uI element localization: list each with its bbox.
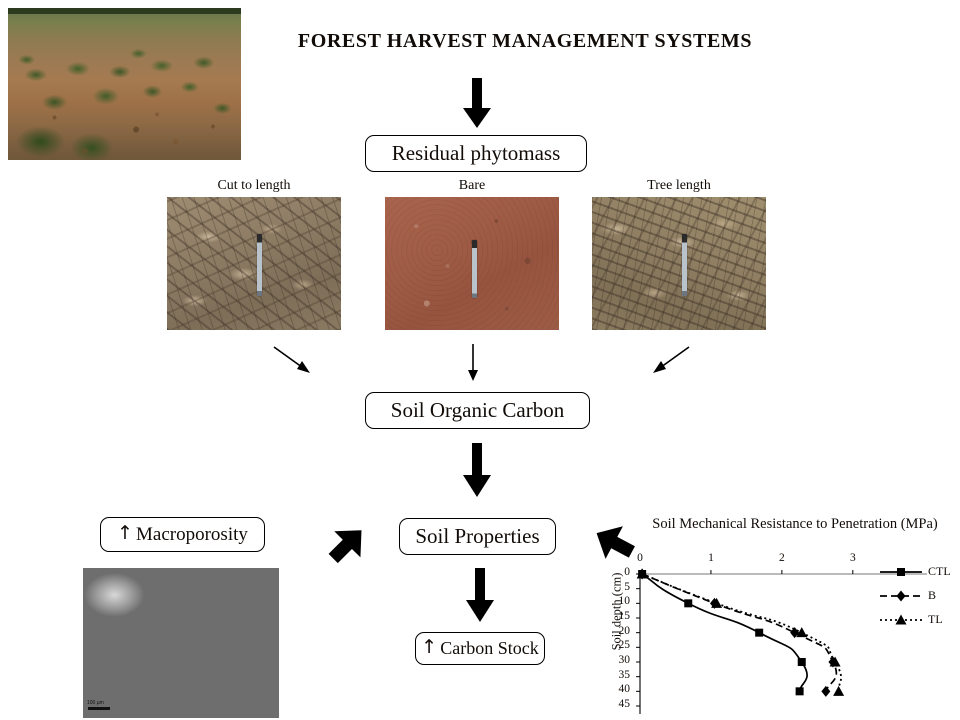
legend-marker-b [897, 591, 906, 602]
box-macroporosity: ↑ Macroporosity [100, 517, 265, 552]
increase-arrow-icon: ↑ [117, 524, 133, 543]
chart-series-line-ctl [642, 574, 807, 691]
caption-bare: Bare [385, 178, 559, 194]
legend-marker-ctl [897, 568, 905, 576]
arrow-phytomass-to-ctl [272, 345, 318, 379]
tree-length-residue-photo [592, 197, 766, 330]
box-macroporosity-label: Macroporosity [136, 524, 248, 546]
chart-data-point-tl [833, 686, 844, 696]
plantation-photo [8, 8, 241, 160]
chart-series-line-tl [642, 574, 841, 691]
bare-soil-photo [385, 197, 559, 330]
legend-label-tl: TL [928, 612, 943, 627]
arrow-bare-to-soc [466, 344, 480, 382]
pen-scale-object [472, 240, 477, 298]
box-soil-organic-carbon: Soil Organic Carbon [365, 392, 590, 429]
box-residual-phytomass: Residual phytomass [365, 135, 587, 172]
cut-to-length-residue-photo [167, 197, 341, 330]
arrow-soc-to-soil-properties [462, 443, 492, 499]
pen-scale-object [682, 234, 687, 296]
arrow-properties-to-carbon-stock [465, 568, 495, 624]
chart-data-point-ctl [798, 658, 806, 666]
chart-data-point-ctl [796, 687, 804, 695]
chart-data-point-ctl [684, 599, 692, 607]
legend-label-ctl: CTL [928, 564, 951, 579]
caption-cut-to-length: Cut to length [167, 178, 341, 194]
sem-micrograph-photo: 100 µm [83, 568, 279, 718]
arrow-tl-to-soc [645, 345, 691, 379]
box-soil-properties-label: Soil Properties [415, 524, 539, 549]
arrow-title-to-phytomass [462, 78, 492, 130]
legend-marker-tl [896, 615, 907, 625]
box-carbon-stock-label: Carbon Stock [440, 638, 539, 659]
chart-data-point-b [821, 686, 830, 697]
chart-plot-area [592, 516, 960, 720]
sem-scale-bar [88, 707, 110, 710]
box-residual-phytomass-label: Residual phytomass [392, 141, 561, 166]
penetration-resistance-chart: Soil Mechanical Resistance to Penetratio… [592, 516, 960, 720]
sem-scale-text: 100 µm [87, 700, 104, 706]
box-soil-organic-carbon-label: Soil Organic Carbon [391, 398, 564, 423]
page-title: FOREST HARVEST MANAGEMENT SYSTEMS [255, 30, 795, 53]
legend-label-b: B [928, 588, 936, 603]
increase-arrow-icon: ↑ [421, 638, 437, 657]
plantation-photo-texture [8, 8, 241, 160]
arrow-properties-to-macroporosity [322, 522, 372, 566]
box-carbon-stock: ↑ Carbon Stock [415, 632, 545, 665]
caption-tree-length: Tree length [592, 178, 766, 194]
pen-scale-object [257, 234, 262, 296]
chart-data-point-ctl [755, 629, 763, 637]
box-soil-properties: Soil Properties [399, 518, 556, 555]
